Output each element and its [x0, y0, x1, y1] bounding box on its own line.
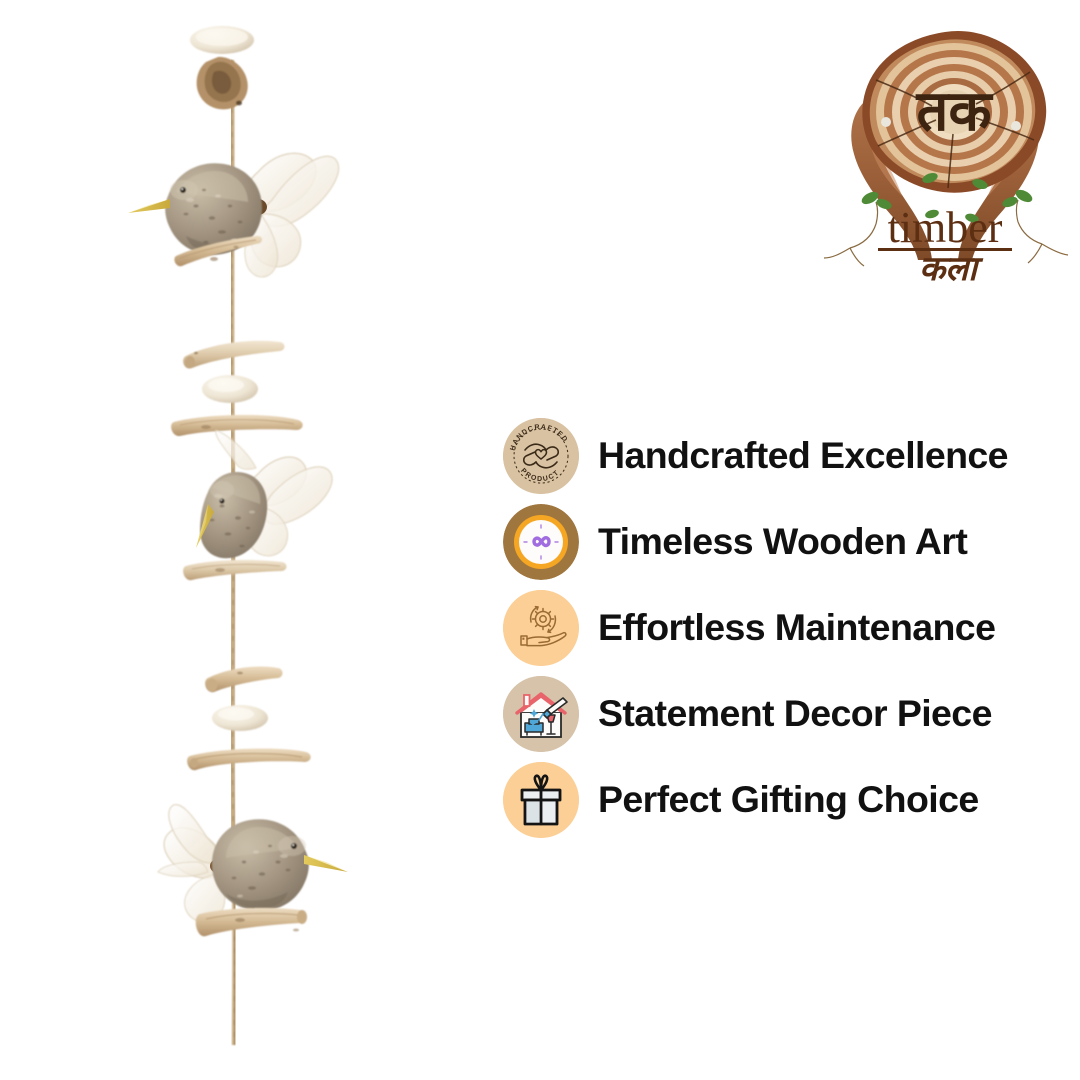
feature-label-timeless: Timeless Wooden Art	[598, 523, 967, 561]
hand-holding-gear-icon	[503, 590, 579, 666]
product-image	[0, 0, 470, 1080]
feature-label-gifting: Perfect Gifting Choice	[598, 781, 979, 819]
driftwood-stick-4	[187, 749, 311, 771]
feature-label-maintenance: Effortless Maintenance	[598, 609, 995, 647]
bird-3-beak	[304, 855, 348, 872]
gift-box-icon	[503, 762, 579, 838]
feature-row-timeless: Timeless Wooden Art	[503, 499, 1078, 585]
bird-3-perch	[196, 908, 307, 936]
bark-nugget	[197, 57, 248, 109]
feature-label-decor: Statement Decor Piece	[598, 695, 992, 733]
brand-logo: तक	[820, 18, 1070, 283]
pebble-2	[212, 705, 268, 731]
bird-3-body	[212, 819, 309, 911]
feature-row-maintenance: Effortless Maintenance	[503, 585, 1078, 671]
driftwood-stick-3	[205, 666, 282, 692]
feature-list: HANDCRAFTED PRODUCT Handcrafted Excellen…	[503, 413, 1078, 843]
logo-wordmark-primary: timber	[888, 203, 1003, 252]
bird-1-beak	[128, 199, 170, 213]
bird-2-group	[183, 430, 332, 580]
feature-row-gifting: Perfect Gifting Choice	[503, 757, 1078, 843]
feature-row-decor: Statement Decor Piece	[503, 671, 1078, 757]
feature-row-handcrafted: HANDCRAFTED PRODUCT Handcrafted Excellen…	[503, 413, 1078, 499]
bird-3-group	[158, 805, 348, 937]
handcrafted-product-badge-icon: HANDCRAFTED PRODUCT	[503, 418, 579, 494]
feature-label-handcrafted: Handcrafted Excellence	[598, 437, 1008, 475]
logo-monogram: तक	[916, 81, 994, 143]
logo-tree-rings: तक	[862, 31, 1046, 193]
house-with-paintbrush-icon	[503, 676, 579, 752]
pebble-1	[202, 375, 258, 403]
logo-wordmark-secondary: कला	[919, 251, 984, 283]
top-pebble	[190, 26, 254, 54]
infinity-ring-icon	[503, 504, 579, 580]
driftwood-stick-2	[171, 415, 303, 436]
promo-canvas: तक	[0, 0, 1080, 1080]
